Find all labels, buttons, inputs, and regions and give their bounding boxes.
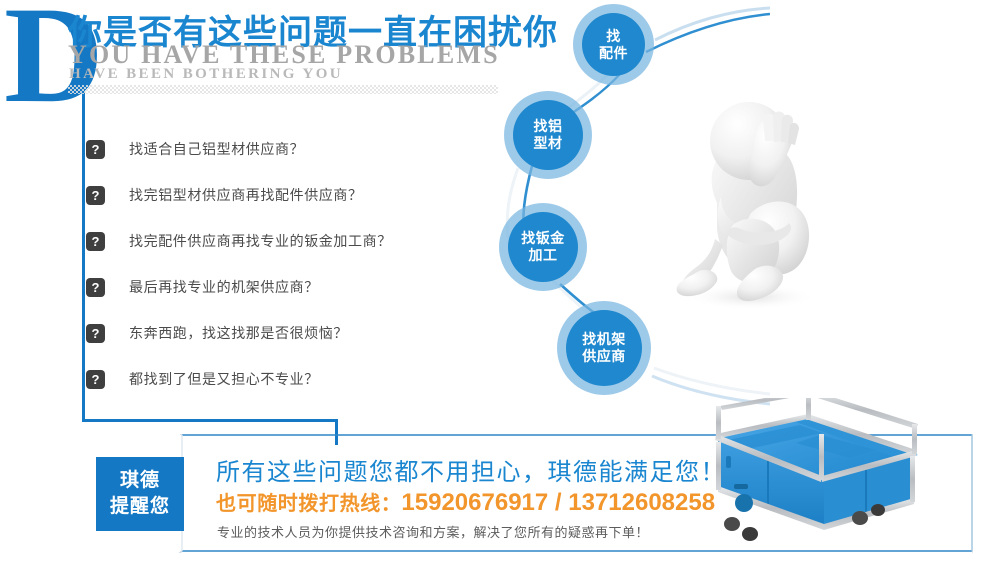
brand-badge-line1: 琪德 — [120, 468, 160, 494]
question-text: 东奔西跑，找这找那是否很烦恼？ — [129, 323, 348, 343]
flow-node-line1: 找 — [606, 28, 621, 44]
cta-headline: 所有这些问题您都不用担心，琪德能满足您！ — [216, 452, 726, 487]
promo-banner-page: D 你是否有这些问题一直在困扰你 YOU HAVE THESE PROBLEMS… — [0, 0, 982, 579]
drop-cap-foot-line — [82, 419, 338, 422]
list-item: ? 东奔西跑，找这找那是否很烦恼？ — [86, 310, 486, 356]
flow-node-find-parts[interactable]: 找 配件 — [582, 13, 645, 76]
flow-node-line2: 配件 — [599, 45, 628, 61]
hatched-divider — [68, 85, 498, 94]
question-list: ? 找适合自己铝型材供应商？ ? 找完铝型材供应商再找配件供应商？ ? 找完配件… — [86, 126, 486, 402]
flow-node-line1: 找铝 — [534, 118, 563, 134]
brand-badge: 琪德 提醒您 — [96, 457, 184, 531]
question-mark-icon: ? — [86, 140, 105, 159]
flow-node-line2: 供应商 — [582, 348, 626, 364]
flow-node-line2: 加工 — [529, 247, 558, 263]
question-text: 找适合自己铝型材供应商？ — [129, 139, 304, 159]
cta-subtext: 专业的技术人员为你提供技术咨询和方案，解决了您所有的疑惑再下单！ — [217, 522, 649, 541]
question-text: 最后再找专业的机架供应商？ — [129, 277, 319, 297]
question-mark-icon: ? — [86, 278, 105, 297]
flow-node-find-frame-supplier[interactable]: 找机架 供应商 — [566, 310, 642, 386]
phone-number-secondary[interactable]: 13712608258 — [568, 489, 715, 516]
list-item: ? 都找到了但是又担心不专业？ — [86, 356, 486, 402]
flow-node-find-sheet-metal[interactable]: 找钣金 加工 — [508, 212, 578, 282]
flow-node-line1: 找钣金 — [521, 230, 565, 246]
list-item: ? 找完铝型材供应商再找配件供应商？ — [86, 172, 486, 218]
cta-hotline-label: 也可随时拨打热线： — [216, 493, 401, 515]
list-item: ? 找适合自己铝型材供应商？ — [86, 126, 486, 172]
question-mark-icon: ? — [86, 186, 105, 205]
drop-cap-stem-line — [82, 74, 85, 422]
question-text: 找完配件供应商再找专业的钣金加工商？ — [129, 231, 392, 251]
list-item: ? 找完配件供应商再找专业的钣金加工商？ — [86, 218, 486, 264]
page-subtitle-line2: HAVE BEEN BOTHERING YOU — [69, 66, 343, 83]
brand-badge-line2: 提醒您 — [110, 494, 170, 520]
question-text: 找完铝型材供应商再找配件供应商？ — [129, 185, 363, 205]
phone-separator: / — [548, 489, 568, 516]
cta-hotline-row: 也可随时拨打热线：15920676917 / 13712608258 — [216, 487, 715, 517]
question-mark-icon: ? — [86, 370, 105, 389]
flow-node-line2: 型材 — [534, 135, 563, 151]
cta-banner: 琪德 提醒您 所有这些问题您都不用担心，琪德能满足您！ 也可随时拨打热线：159… — [78, 434, 973, 553]
product-image — [700, 398, 962, 548]
question-text: 都找到了但是又担心不专业？ — [129, 369, 319, 389]
list-item: ? 最后再找专业的机架供应商？ — [86, 264, 486, 310]
question-mark-icon: ? — [86, 324, 105, 343]
flow-node-line1: 找机架 — [582, 331, 626, 347]
flow-node-find-aluminum-profile[interactable]: 找铝 型材 — [513, 100, 583, 170]
question-mark-icon: ? — [86, 232, 105, 251]
phone-number-primary[interactable]: 15920676917 — [401, 489, 548, 516]
frustrated-person-illustration — [655, 85, 845, 355]
